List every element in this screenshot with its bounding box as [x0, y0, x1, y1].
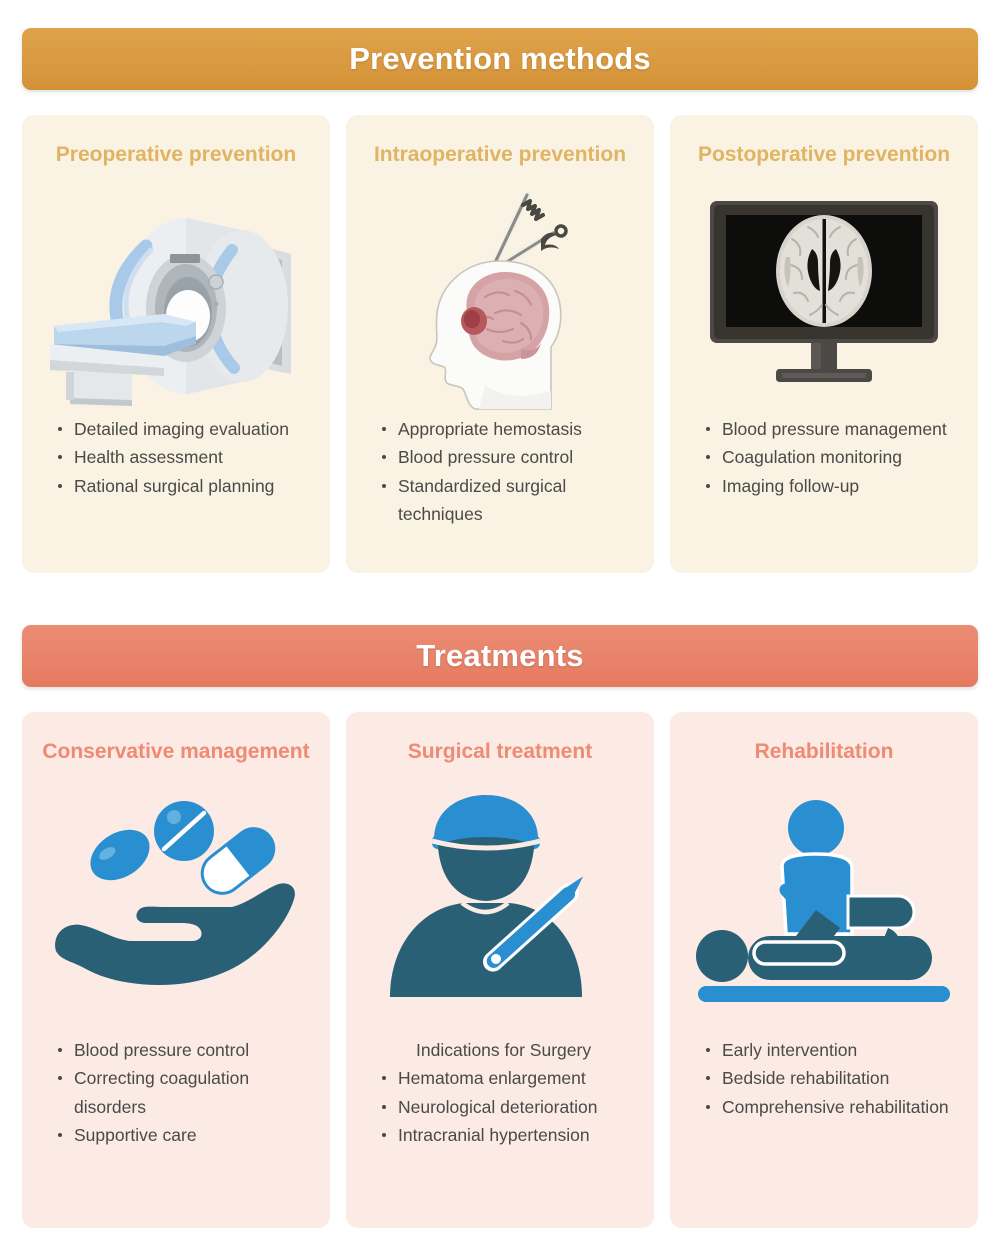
card-body-conservative: Blood pressure control Correcting coagul… — [22, 1036, 330, 1228]
card-body-postoperative: Blood pressure management Coagulation mo… — [670, 415, 978, 573]
card-art-intraoperative — [346, 167, 654, 415]
card-title-intraoperative: Intraoperative prevention — [346, 115, 654, 167]
list-item: Coagulation monitoring — [706, 443, 964, 471]
section-banner-treatments: Treatments — [22, 625, 978, 687]
banner-title-prevention: Prevention methods — [349, 41, 651, 77]
bullet-list-rehabilitation: Early intervention Bedside rehabilitatio… — [684, 1036, 964, 1121]
list-item: Comprehensive rehabilitation — [706, 1093, 964, 1121]
card-postoperative-prevention: Postoperative prevention — [670, 115, 978, 573]
card-rehabilitation: Rehabilitation — [670, 712, 978, 1228]
card-title-postoperative: Postoperative prevention — [670, 115, 978, 167]
list-item: Imaging follow-up — [706, 472, 964, 500]
list-item: Standardized surgical techniques — [382, 472, 640, 529]
card-art-surgical — [346, 764, 654, 1036]
list-item: Health assessment — [58, 443, 316, 471]
monitor-brain-scan-icon — [694, 191, 954, 391]
list-item: Supportive care — [58, 1121, 316, 1149]
card-art-rehabilitation — [670, 764, 978, 1036]
card-title-preoperative: Preoperative prevention — [22, 115, 330, 167]
list-item: Blood pressure control — [382, 443, 640, 471]
bullet-list-intraoperative: Appropriate hemostasis Blood pressure co… — [360, 415, 640, 528]
list-item: Bedside rehabilitation — [706, 1064, 964, 1092]
card-art-preoperative — [22, 167, 330, 415]
surgery-indications-heading: Indications for Surgery — [360, 1036, 640, 1064]
list-item: Appropriate hemostasis — [382, 415, 640, 443]
card-surgical-treatment: Surgical treatment — [346, 712, 654, 1228]
bullet-list-conservative: Blood pressure control Correcting coagul… — [36, 1036, 316, 1149]
card-title-rehabilitation: Rehabilitation — [670, 712, 978, 764]
card-body-rehabilitation: Early intervention Bedside rehabilitatio… — [670, 1036, 978, 1228]
card-title-conservative: Conservative management — [22, 712, 330, 764]
card-intraoperative-prevention: Intraoperative prevention — [346, 115, 654, 573]
card-conservative-management: Conservative management — [22, 712, 330, 1228]
infographic-root: Prevention methods Preoperative preventi… — [0, 0, 1000, 1250]
bullet-list-surgical: Hematoma enlargement Neurological deteri… — [360, 1064, 640, 1149]
card-title-surgical: Surgical treatment — [346, 712, 654, 764]
card-body-surgical: Indications for Surgery Hematoma enlarge… — [346, 1036, 654, 1228]
physiotherapy-rehab-icon — [682, 792, 966, 1008]
section-banner-prevention: Prevention methods — [22, 28, 978, 90]
bullet-list-preoperative: Detailed imaging evaluation Health asses… — [36, 415, 316, 500]
hand-with-pills-icon — [42, 793, 310, 1008]
list-item: Detailed imaging evaluation — [58, 415, 316, 443]
banner-title-treatments: Treatments — [416, 638, 583, 674]
list-item: Rational surgical planning — [58, 472, 316, 500]
list-item: Early intervention — [706, 1036, 964, 1064]
brain-surgery-icon — [375, 171, 625, 411]
list-item: Blood pressure management — [706, 415, 964, 443]
bullet-list-postoperative: Blood pressure management Coagulation mo… — [684, 415, 964, 500]
card-art-postoperative — [670, 167, 978, 415]
mri-scanner-icon — [36, 176, 316, 406]
surgeon-with-scalpel-icon — [380, 791, 620, 1009]
list-item: Hematoma enlargement — [382, 1064, 640, 1092]
list-item: Blood pressure control — [58, 1036, 316, 1064]
list-item: Neurological deterioration — [382, 1093, 640, 1121]
card-preoperative-prevention: Preoperative prevention — [22, 115, 330, 573]
prevention-card-row: Preoperative prevention — [22, 115, 978, 573]
treatments-card-row: Conservative management — [22, 712, 978, 1228]
list-item: Correcting coagulation disorders — [58, 1064, 316, 1121]
card-body-intraoperative: Appropriate hemostasis Blood pressure co… — [346, 415, 654, 573]
list-item: Intracranial hypertension — [382, 1121, 640, 1149]
card-body-preoperative: Detailed imaging evaluation Health asses… — [22, 415, 330, 573]
card-art-conservative — [22, 764, 330, 1036]
